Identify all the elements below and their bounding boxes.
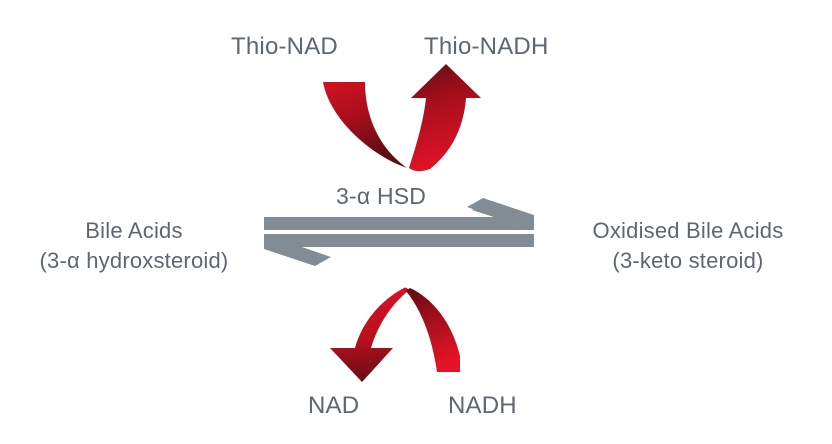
nad-descending-arrow [330,288,409,382]
label-oxidised-bile-acids: Oxidised Bile Acids (3-keto steroid) [552,216,824,276]
oxidised-bile-acids-line-1: Oxidised Bile Acids [593,218,784,243]
label-thio-nadh: Thio-NADH [424,33,548,61]
thio-nad-descending-arrow [323,82,407,168]
nadh-ascending-arrow [406,288,460,372]
diagram-canvas: Thio-NAD Thio-NADH 3-α HSD Bile Acids (3… [0,0,832,444]
label-nad: NAD [308,392,359,420]
label-enzyme-3-alpha-hsd: 3-α HSD [336,183,426,209]
label-bile-acids: Bile Acids (3-α hydroxsteroid) [10,216,258,276]
thio-nadh-ascending-arrow [409,64,481,171]
oxidised-bile-acids-line-2: (3-keto steroid) [552,246,824,276]
reduction-reverse-arrow [264,234,534,266]
label-nadh: NADH [448,392,517,420]
bile-acids-line-2: (3-α hydroxsteroid) [10,246,258,276]
bile-acids-line-1: Bile Acids [85,218,182,243]
label-thio-nad: Thio-NAD [231,33,338,61]
